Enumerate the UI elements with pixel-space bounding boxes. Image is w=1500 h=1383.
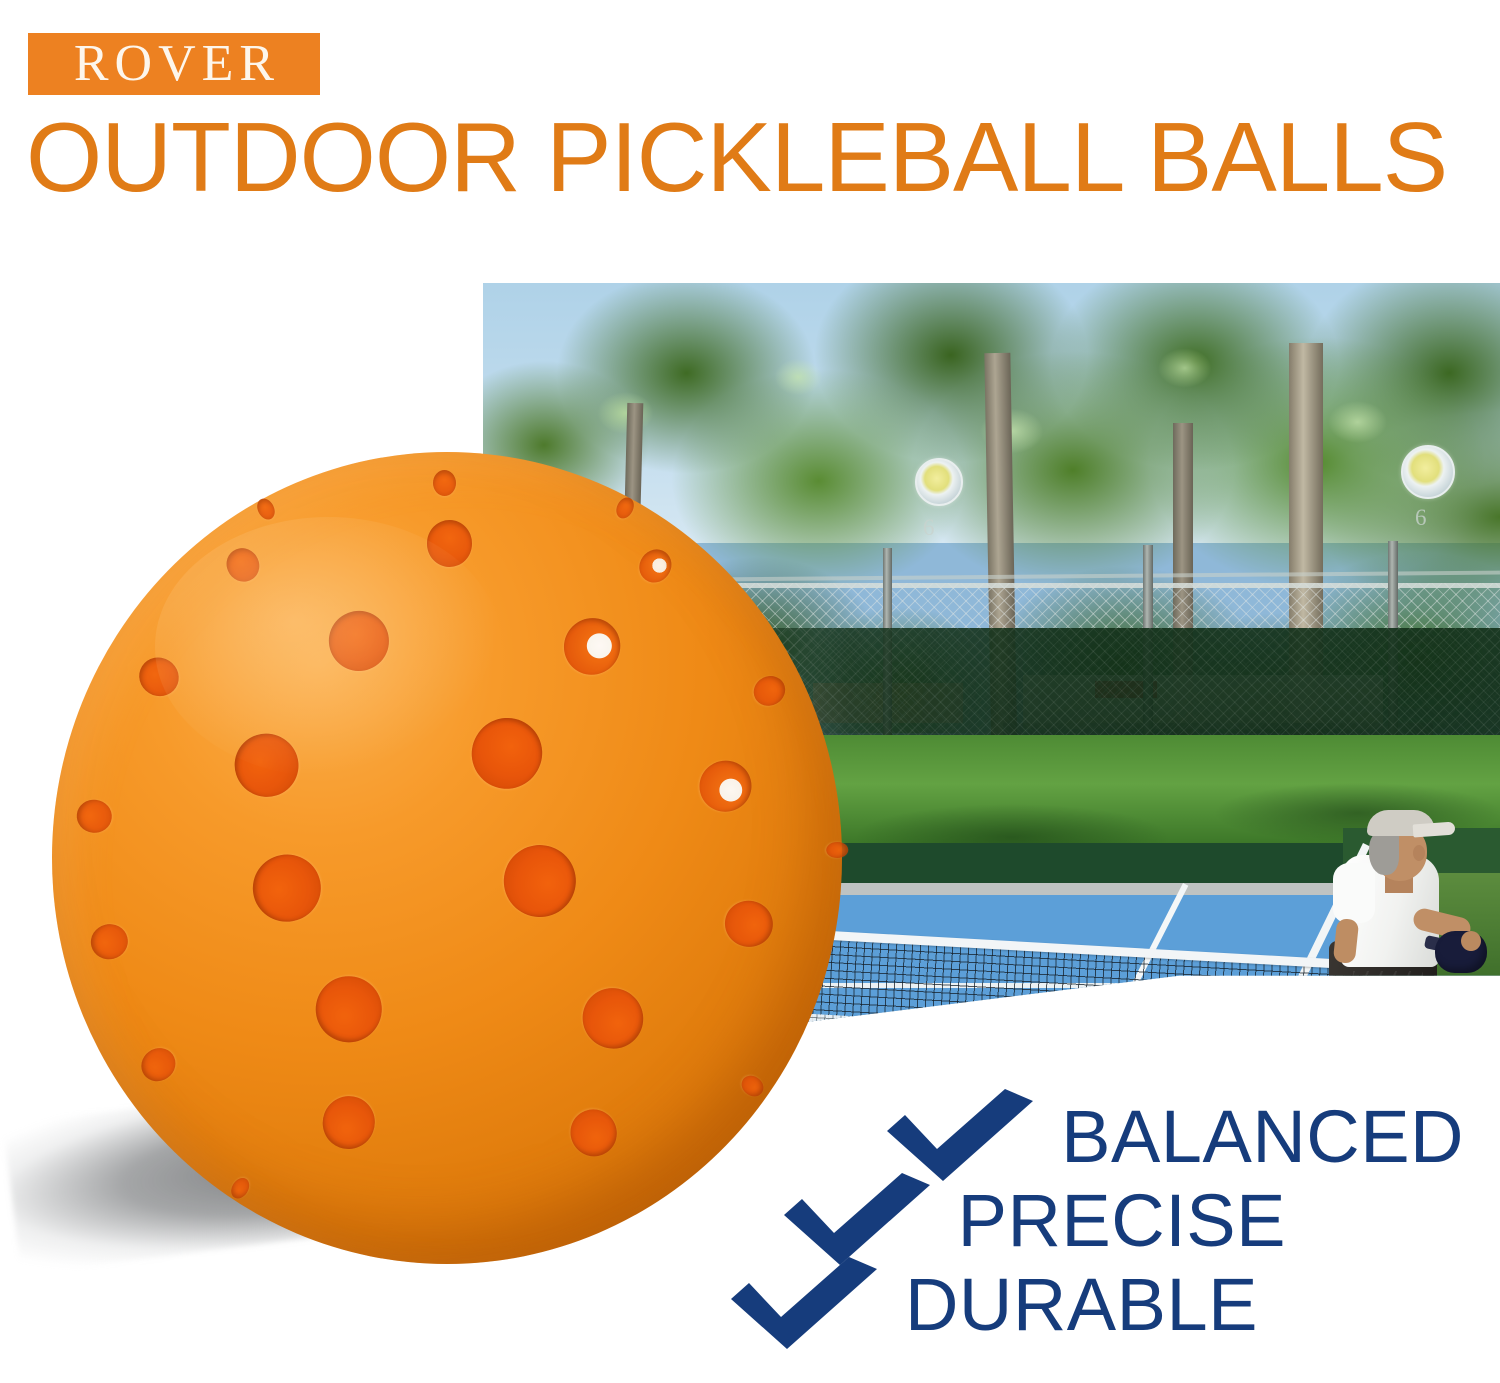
- foreground-player-ear: [1413, 845, 1425, 861]
- feature-label: DURABLE: [905, 1268, 1258, 1342]
- feature-label: BALANCED: [1061, 1100, 1464, 1174]
- feature-list: BALANCED PRECISE DURABLE: [664, 1095, 1464, 1347]
- feature-item-precise: PRECISE: [664, 1179, 1286, 1263]
- feature-item-durable: DURABLE: [664, 1263, 1258, 1347]
- feature-label: PRECISE: [958, 1184, 1286, 1258]
- feature-item-balanced: BALANCED: [664, 1095, 1464, 1179]
- court-number-label: 6: [1415, 505, 1427, 531]
- foreground-player-hair: [1369, 831, 1399, 875]
- court-number-label: 6: [923, 515, 935, 541]
- page-title: OUTDOOR PICKLEBALL BALLS: [26, 108, 1486, 208]
- foreground-player-hand: [1461, 931, 1481, 951]
- club-logo-icon: [1401, 445, 1455, 499]
- brand-name: ROVER: [68, 38, 280, 90]
- foreground-player-sleeve: [1333, 863, 1375, 923]
- check-icon: [729, 1255, 879, 1356]
- brand-logo-badge: ROVER: [28, 33, 320, 95]
- pickleball-highlight: [155, 517, 503, 777]
- club-logo-icon: [915, 458, 963, 506]
- foreground-player-shorts-folds: [1353, 971, 1423, 1031]
